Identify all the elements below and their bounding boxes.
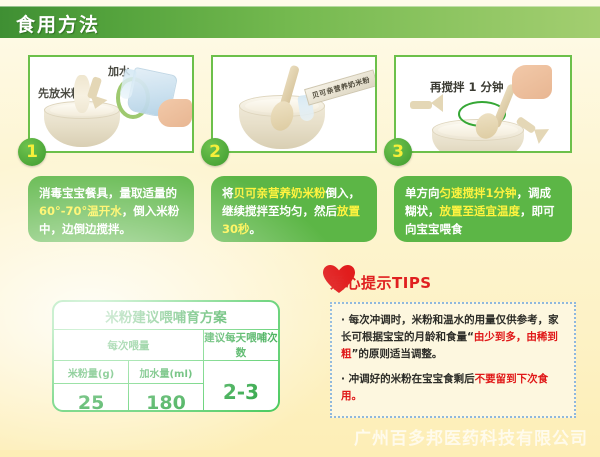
table-col-water-amount: 加水量(ml): [129, 361, 204, 384]
header-banner: 食用方法: [0, 6, 600, 38]
arrow-left-head-icon: [431, 94, 443, 112]
step-3-illustration-panel: 再搅拌 1 分钟: [394, 55, 572, 153]
step-2-instruction-text: 将贝可亲营养奶米粉倒入，继续搅拌至均匀，然后放置30秒。: [211, 176, 377, 242]
step-3-number-badge: 3: [384, 138, 412, 166]
table-cell-powder-value: 25: [54, 384, 129, 413]
table-cell-frequency-value: 2-3: [203, 361, 278, 413]
step-2-number-badge: 2: [201, 138, 229, 166]
arrow-left-stem-icon: [410, 101, 432, 109]
product-package-icon[interactable]: 贝可亲营养奶米粉: [304, 69, 377, 105]
step-1-number-badge: 1: [18, 138, 46, 166]
tip-item: · 冲调好的米粉在宝宝食剩后不要留到下次食用。: [341, 371, 565, 405]
product-package-label: 贝可亲营养奶米粉: [311, 74, 371, 100]
table-title: 米粉建议喂哺育方案: [54, 302, 278, 330]
table-cell-water-value: 180: [129, 384, 204, 413]
feeding-plan-table: 米粉建议喂哺育方案 每次喂量 建议每天喂哺次数 米粉量(g) 加水量(ml) 2…: [52, 300, 280, 412]
table-group-header: 每次喂量: [54, 330, 203, 361]
hand-icon: [512, 65, 552, 99]
hand-icon: [158, 99, 192, 127]
page-root: 食用方法 先放米粉 加水 贝可亲营养奶米粉 再搅拌 1 分钟: [0, 0, 600, 457]
step-3-label-stir-one-minute: 再搅拌 1 分钟: [430, 79, 504, 95]
tips-heading: 爱心提示TIPS: [330, 272, 432, 293]
tip-item: · 每次冲调时，米粉和温水的用量仅供参考，家长可根据宝宝的月龄和食量“由少到多，…: [341, 312, 565, 363]
table-frequency-header: 建议每天喂哺次数: [203, 330, 278, 361]
step-1-illustration-panel: 先放米粉 加水: [28, 55, 194, 153]
step-1-instruction-text: 消毒宝宝餐具，量取适量的60°-70°温开水，倒入米粉中，边倒边搅拌。: [28, 176, 194, 242]
table-col-powder-amount: 米粉量(g): [54, 361, 129, 384]
tips-box: · 每次冲调时，米粉和温水的用量仅供参考，家长可根据宝宝的月龄和食量“由少到多，…: [330, 302, 576, 418]
step-3-instruction-text: 单方向匀速搅拌1分钟，调成糊状，放置至适宜温度，即可向宝宝喂食: [394, 176, 572, 242]
step-2-illustration-panel: 贝可亲营养奶米粉: [211, 55, 377, 153]
company-watermark: 广州百多邦医药科技有限公司: [354, 424, 588, 449]
page-title: 食用方法: [16, 10, 100, 37]
